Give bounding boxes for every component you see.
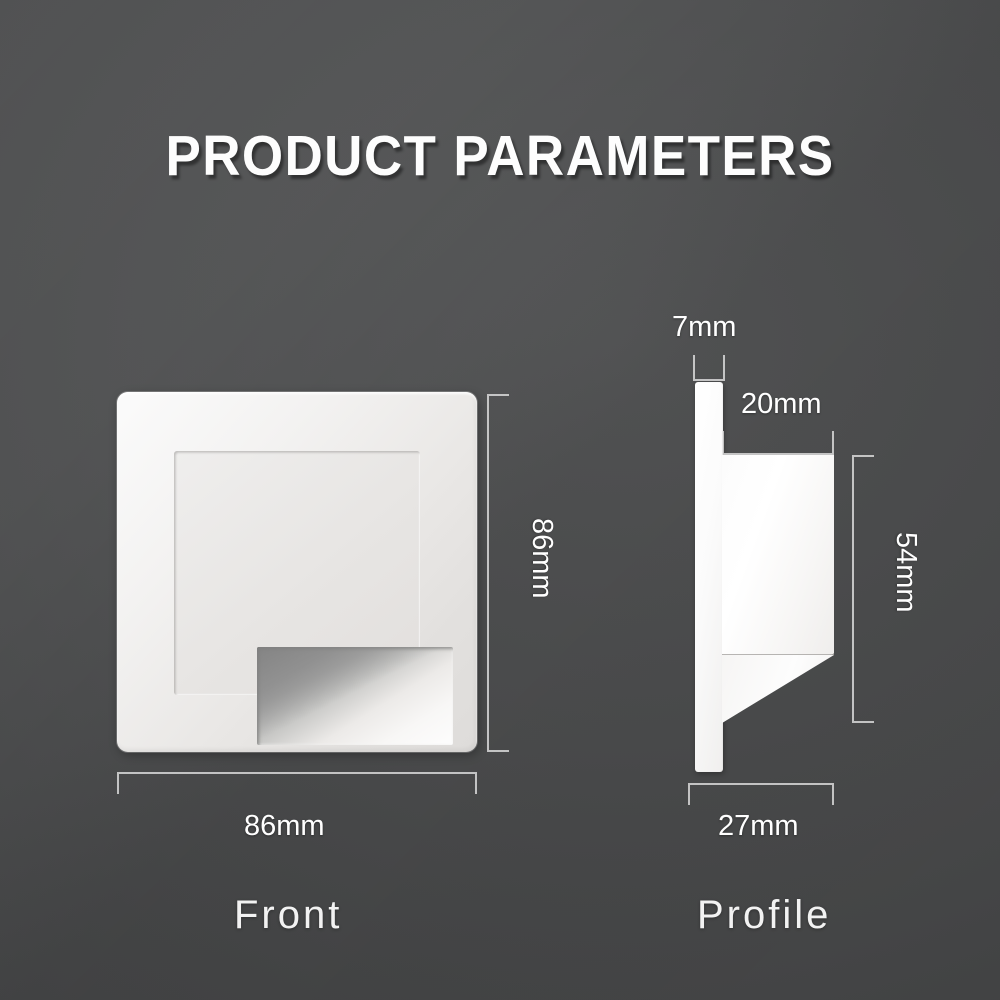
front-height-label: 86mm — [527, 518, 556, 599]
profile-depth-label: 20mm — [741, 390, 822, 419]
profile-thickness-bracket — [693, 355, 725, 381]
profile-total-depth-bracket — [688, 783, 834, 805]
profile-total-depth-label: 27mm — [718, 812, 799, 841]
product-parameters-image: PRODUCT PARAMETERS 86mm 86mm Front 7mm 2… — [0, 0, 1000, 1000]
profile-view-caption: Profile — [697, 895, 831, 935]
profile-body-chamfer — [722, 655, 834, 723]
front-height-bracket — [487, 394, 509, 752]
front-view-caption: Front — [234, 895, 342, 935]
profile-height-bracket — [852, 455, 874, 723]
front-light-cavity — [257, 647, 453, 745]
front-inner-panel — [174, 451, 420, 695]
page-title: PRODUCT PARAMETERS — [35, 128, 965, 185]
front-faceplate — [117, 392, 477, 752]
front-view-illustration — [117, 392, 477, 752]
profile-body-seam — [722, 654, 834, 655]
profile-faceplate — [695, 382, 723, 772]
profile-depth-bracket — [722, 431, 834, 455]
profile-thickness-label: 7mm — [672, 313, 736, 342]
profile-height-label: 54mm — [891, 532, 920, 613]
cavity-shadow-wedge — [257, 647, 453, 745]
front-width-bracket — [117, 772, 477, 794]
front-width-label: 86mm — [244, 812, 325, 841]
